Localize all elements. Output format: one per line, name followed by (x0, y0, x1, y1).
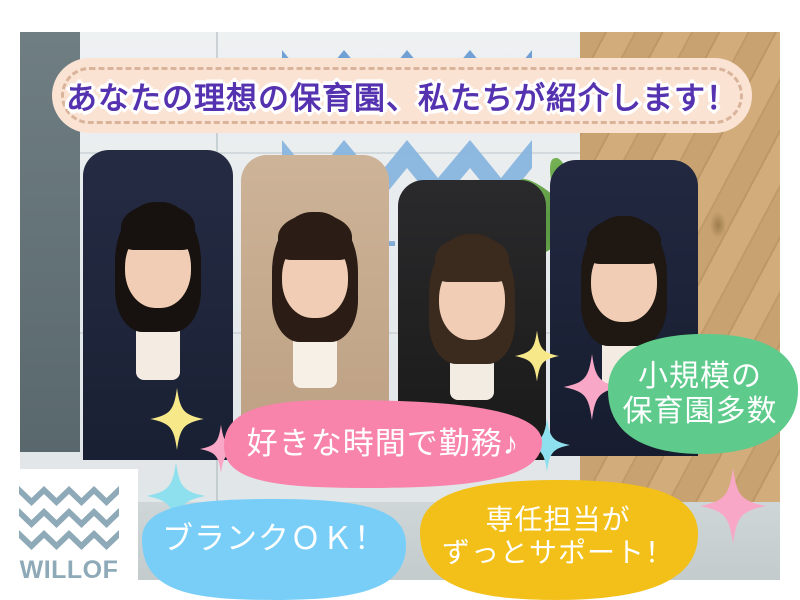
sparkle-yellow-mid-icon (515, 330, 559, 382)
bubble-career-gap-ok: ブランクＯＫ！ (138, 495, 410, 600)
bubble-yellow-line-2: ずっとサポート！ (442, 536, 674, 569)
bubble-blue-line-1: ブランクＯＫ！ (162, 521, 386, 558)
bubble-small-nurseries: 小規模の 保育園多数 (592, 332, 800, 456)
bubble-green-line-1: 小規模の (638, 359, 762, 394)
sparkle-yellow-left-icon (150, 388, 204, 450)
willof-logo-card: WILLOF (0, 469, 138, 600)
willof-zigzag-icon (19, 484, 119, 550)
bubble-green-line-2: 保育園多数 (623, 394, 778, 429)
bubble-yellow-line-1: 専任担当が (485, 503, 630, 536)
willof-wordmark: WILLOF (20, 556, 119, 585)
headline-banner: あなたの理想の保育園、私たちが紹介します！ (52, 58, 752, 133)
bubble-dedicated-support: 専任担当が ずっとサポート！ (416, 478, 700, 600)
banner-text: あなたの理想の保育園、私たちが紹介します！ (52, 58, 752, 133)
poster-root: WILLOF (0, 0, 800, 600)
bubble-pink-line-1: 好きな時間で勤務♪ (247, 426, 520, 463)
sparkle-pink-right-icon (700, 468, 766, 544)
bubble-flexible-hours: 好きな時間で勤務♪ (218, 398, 548, 490)
